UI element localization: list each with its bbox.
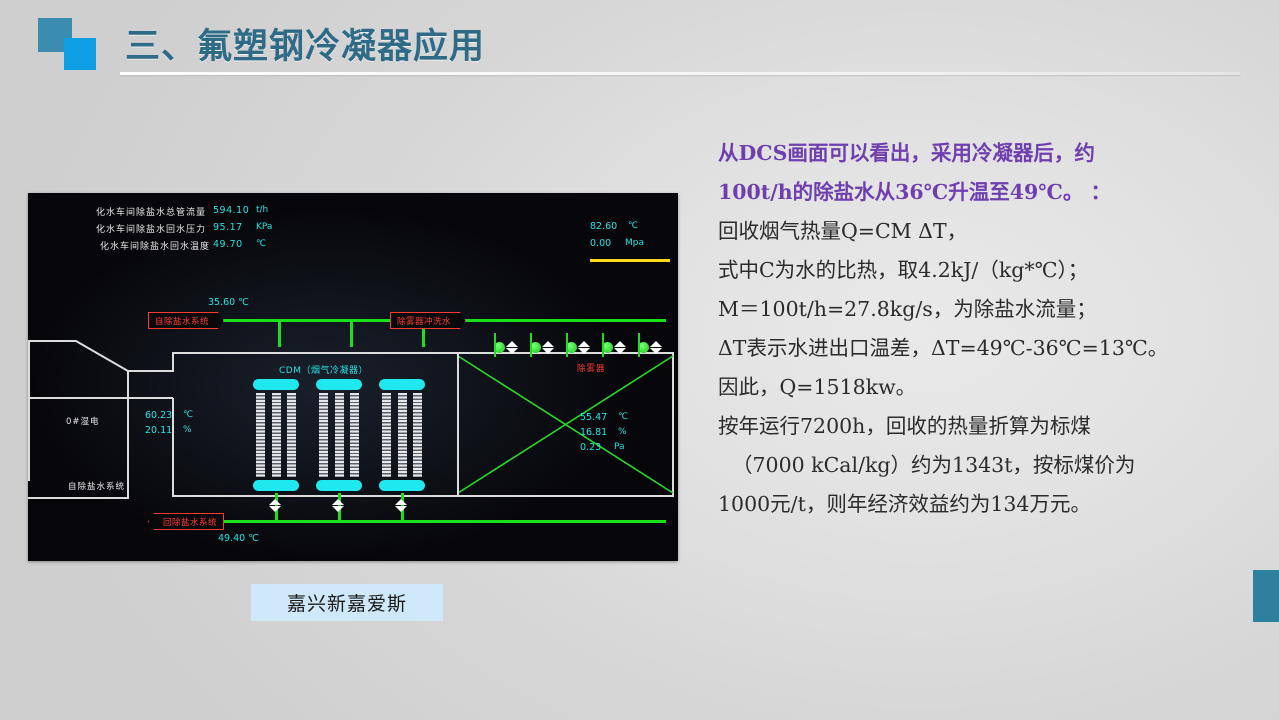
dcs-gasout-unit-1: ℃ <box>618 412 628 422</box>
tube-bundle-2 <box>316 379 362 491</box>
duct-outline <box>28 193 678 561</box>
dcs-gasout-value-2: 16.81 <box>580 427 607 438</box>
dcs-gasout-value-1: 55.47 <box>580 412 607 423</box>
dcs-gasout-value-3: 0.23 <box>580 442 601 453</box>
dcs-gasout-unit-2: % <box>618 427 627 437</box>
dcs-demister-label: 除雾器 <box>577 362 606 374</box>
body-line-6: ΔT表示水进出口温差，ΔT=49℃-36℃=13℃。 <box>718 329 1264 368</box>
inlet-temp: 35.60 ℃ <box>208 297 249 308</box>
dcs-gasin-unit-2: % <box>183 425 192 435</box>
wash-water-tag: 除雾器冲洗水 <box>390 312 466 329</box>
decor-square-light <box>64 38 96 70</box>
body-line-7: 因此，Q=1518kw。 <box>718 368 1264 407</box>
branch-pipe-1 <box>278 319 281 347</box>
valve-stem-3 <box>566 333 568 357</box>
outlet-valve-2 <box>332 499 345 512</box>
outlet-valve-1 <box>269 499 282 512</box>
dcs-gasout-unit-3: Pa <box>614 442 625 452</box>
edge-accent-bar <box>1253 570 1279 622</box>
cdm-unit-label: CDM（烟气冷凝器） <box>279 363 368 376</box>
outlet-temp: 49.40 ℃ <box>218 533 259 544</box>
dcs-left-block-label: 0#湿电 <box>66 415 100 427</box>
valve-stem-5 <box>638 333 640 357</box>
dcs-left-block-label-2: 自除盐水系统 <box>68 480 125 492</box>
tube-bundle-3 <box>379 379 425 491</box>
valve-stem-4 <box>602 333 604 357</box>
outlet-valve-3 <box>395 499 408 512</box>
body-line-2: 100t/h的除盐水从36℃升温至49℃。 ： <box>718 173 1264 212</box>
valve-stem-1 <box>494 333 496 357</box>
valve-icon-2 <box>542 341 555 354</box>
body-line-3: 回收烟气热量Q=CM ΔT， <box>718 212 1264 251</box>
slide-canvas: 三、氟塑钢冷凝器应用 从DCS画面可以看出，采用冷凝器后，约 100t/h的除盐… <box>0 0 1279 720</box>
body-line-1: 从DCS画面可以看出，采用冷凝器后，约 <box>718 134 1264 173</box>
body-line-9: （7000 kCal/kg）约为1343t，按标煤价为 <box>718 446 1264 485</box>
valve-icon-5 <box>650 341 663 354</box>
body-line-4: 式中C为水的比热，取4.2kJ/（kg*℃）； <box>718 251 1264 290</box>
valve-icon-1 <box>506 341 519 354</box>
branch-pipe-2 <box>350 319 353 347</box>
dcs-gasin-unit-1: ℃ <box>183 410 193 420</box>
inlet-tag: 自除盐水系统 <box>148 312 224 329</box>
valve-stem-2 <box>530 333 532 357</box>
image-caption: 嘉兴新嘉爱斯 <box>251 584 443 621</box>
tube-bundle-1 <box>253 379 299 491</box>
dcs-gasin-value-1: 60.23 <box>145 410 172 421</box>
body-line-8: 按年运行7200h，回收的热量折算为标煤 <box>718 407 1264 446</box>
title-divider <box>120 72 1240 75</box>
outlet-tag: 回除盐水系统 <box>148 513 224 530</box>
valve-icon-4 <box>614 341 627 354</box>
dcs-screen-photo: 化水车间除盐水总管流量 594.10 t/h 化水车间除盐水回水压力 95.17… <box>28 193 678 561</box>
body-line-5: M＝100t/h=27.8kg/s，为除盐水流量； <box>718 290 1264 329</box>
valve-icon-3 <box>578 341 591 354</box>
body-line-10: 1000元/t，则年经济效益约为134万元。 <box>718 485 1264 524</box>
body-text-block: 从DCS画面可以看出，采用冷凝器后，约 100t/h的除盐水从36℃升温至49℃… <box>718 134 1264 524</box>
dcs-gasin-value-2: 20.11 <box>145 425 172 436</box>
page-title: 三、氟塑钢冷凝器应用 <box>125 18 485 69</box>
